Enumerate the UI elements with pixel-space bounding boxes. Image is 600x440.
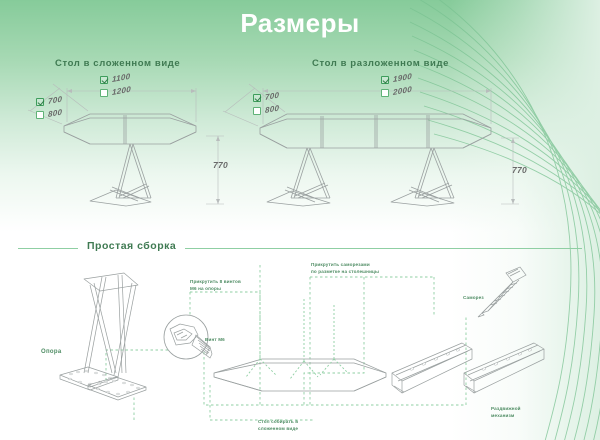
- checkbox-unchecked-icon[interactable]: [253, 107, 261, 115]
- option-value: 1200: [112, 85, 131, 97]
- unfolded-table-drawing: [235, 66, 525, 206]
- option-row[interactable]: 1900: [381, 74, 412, 85]
- option-row[interactable]: 800: [253, 105, 279, 116]
- option-value: 700: [48, 94, 62, 106]
- folded-depth-options[interactable]: 700 800: [36, 96, 62, 122]
- option-value: 800: [265, 103, 279, 115]
- folded-width-options[interactable]: 1100 1200: [100, 74, 131, 100]
- unfolded-depth-options[interactable]: 700 800: [253, 92, 279, 118]
- self-tapping-screw-illustration: [478, 267, 526, 317]
- assembly-label-self-tapping-screw: Саморез: [463, 295, 484, 302]
- checkbox-unchecked-icon[interactable]: [36, 111, 44, 119]
- option-row[interactable]: 1100: [100, 74, 131, 85]
- assembly-label-assemble-note: Стол собирать в сложенном виде: [258, 419, 298, 432]
- folded-height-value: 770: [213, 160, 228, 170]
- assembly-section-title: Простая сборка: [78, 240, 185, 252]
- checkbox-unchecked-icon[interactable]: [100, 89, 108, 97]
- panel-heading-unfolded: Стол в разложенном виде: [312, 58, 449, 69]
- infographic-page: Размеры Стол в сложенном виде: [0, 0, 600, 440]
- page-title: Размеры: [0, 8, 600, 39]
- unfolded-height-value: 770: [512, 165, 527, 175]
- folded-table-drawing: [20, 66, 250, 206]
- option-value: 1900: [393, 72, 412, 84]
- assembly-label-slide-mechanism: Раздвижной механизм: [491, 406, 521, 419]
- checkbox-checked-icon[interactable]: [381, 76, 389, 84]
- option-row[interactable]: 700: [36, 96, 62, 107]
- option-row[interactable]: 800: [36, 109, 62, 120]
- option-row[interactable]: 2000: [381, 87, 412, 98]
- option-value: 1100: [112, 72, 130, 84]
- option-value: 800: [48, 107, 62, 119]
- assembly-label-bolts: Прикрутить 8 винтов М6 на опоры: [190, 279, 241, 292]
- assembly-label-leg: Опора: [41, 348, 61, 357]
- checkbox-unchecked-icon[interactable]: [381, 89, 389, 97]
- checkbox-checked-icon[interactable]: [253, 94, 261, 102]
- option-value: 700: [265, 90, 279, 102]
- checkbox-checked-icon[interactable]: [100, 76, 108, 84]
- unfolded-width-options[interactable]: 1900 2000: [381, 74, 412, 100]
- option-row[interactable]: 700: [253, 92, 279, 103]
- checkbox-checked-icon[interactable]: [36, 98, 44, 106]
- option-value: 2000: [393, 85, 412, 97]
- panel-heading-folded: Стол в сложенном виде: [55, 58, 180, 69]
- option-row[interactable]: 1200: [100, 87, 131, 98]
- assembly-label-screws: Прикрутить саморезами по разметке на сто…: [311, 262, 379, 275]
- assembly-label-bolt-item: Винт М6: [205, 337, 225, 344]
